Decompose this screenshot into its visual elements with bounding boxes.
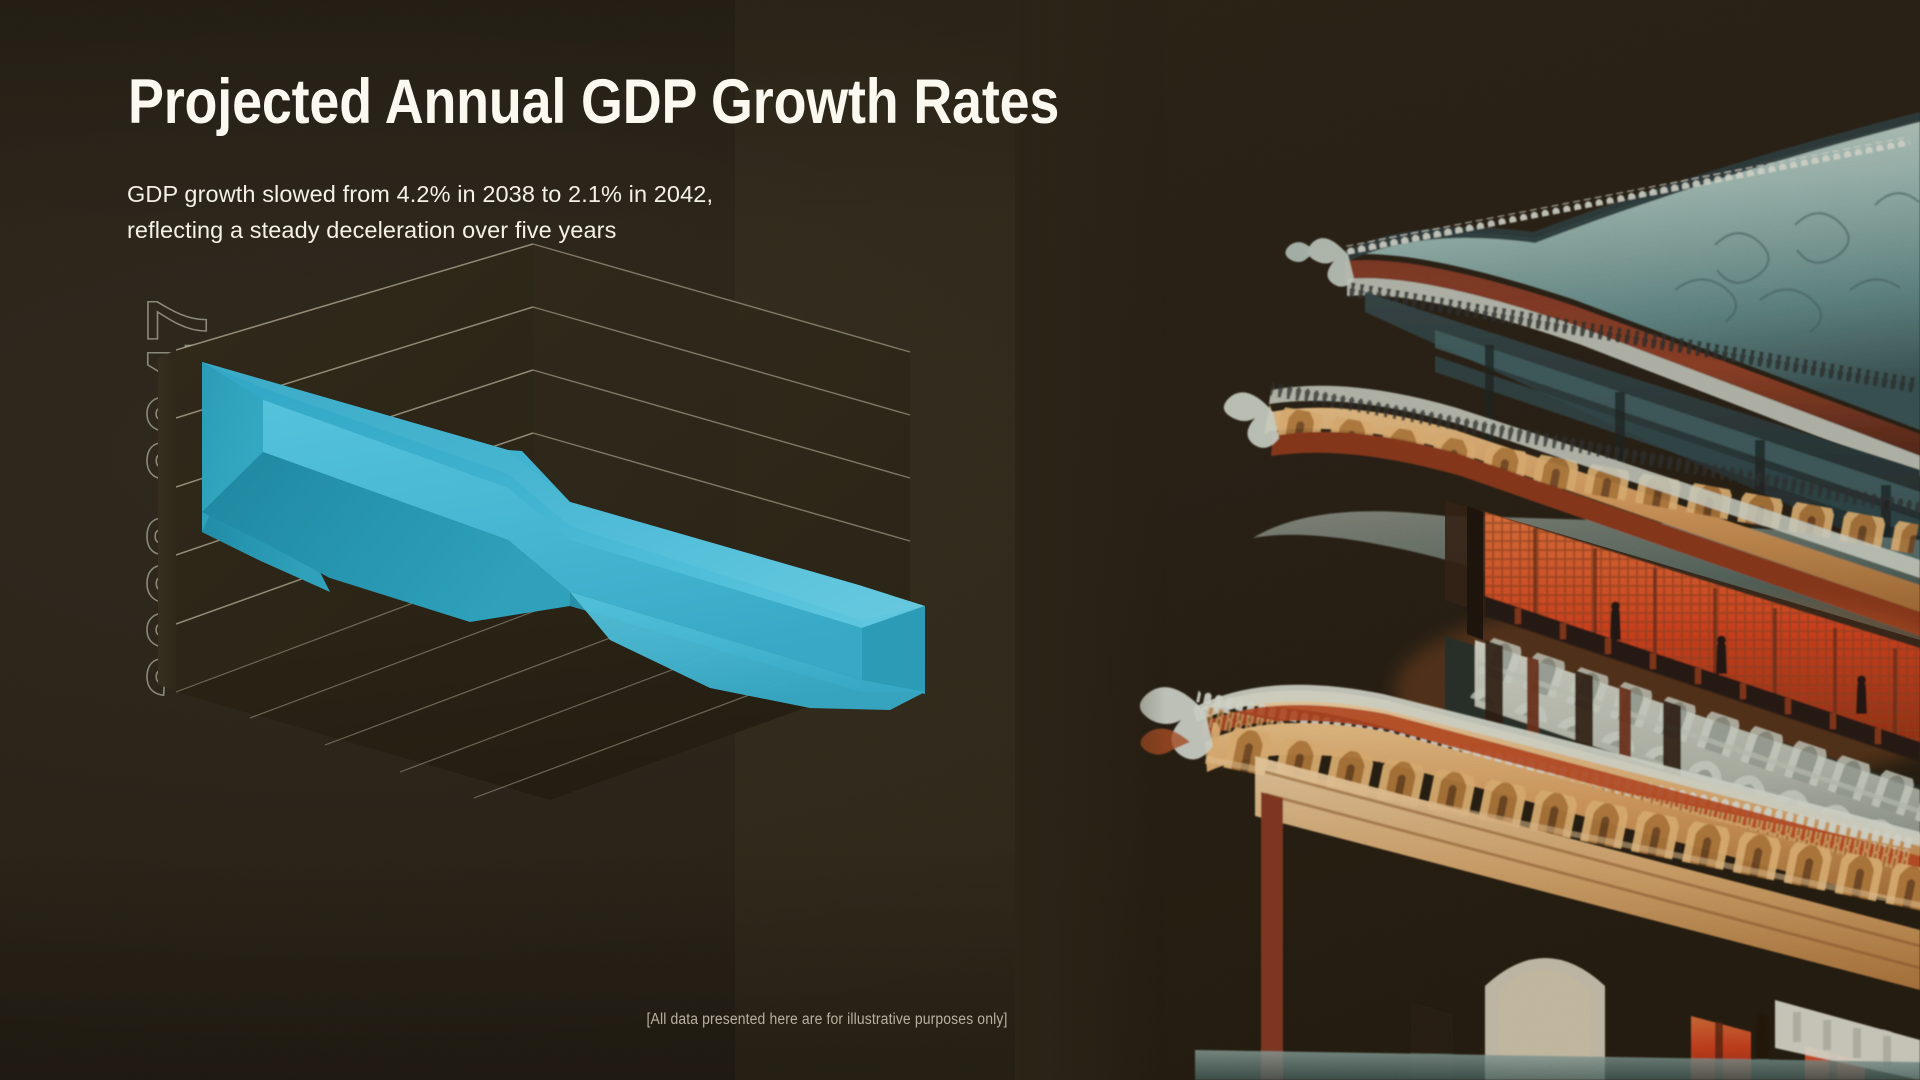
page-subtitle: GDP growth slowed from 4.2% in 2038 to 2… xyxy=(127,177,887,248)
subtitle-line-1: GDP growth slowed from 4.2% in 2038 to 2… xyxy=(127,177,887,213)
chart-wall-left-edge xyxy=(158,350,176,692)
illustrative-data-disclaimer: [All data presented here are for illustr… xyxy=(629,1011,1025,1029)
slide-canvas: Projected Annual GDP Growth Rates GDP gr… xyxy=(0,0,1920,1080)
page-title: Projected Annual GDP Growth Rates xyxy=(128,70,983,134)
temple-night-photo xyxy=(1015,0,1920,1080)
photo-left-edge-fade xyxy=(1015,0,1920,1080)
gdp-growth-3d-area-chart xyxy=(150,240,930,800)
